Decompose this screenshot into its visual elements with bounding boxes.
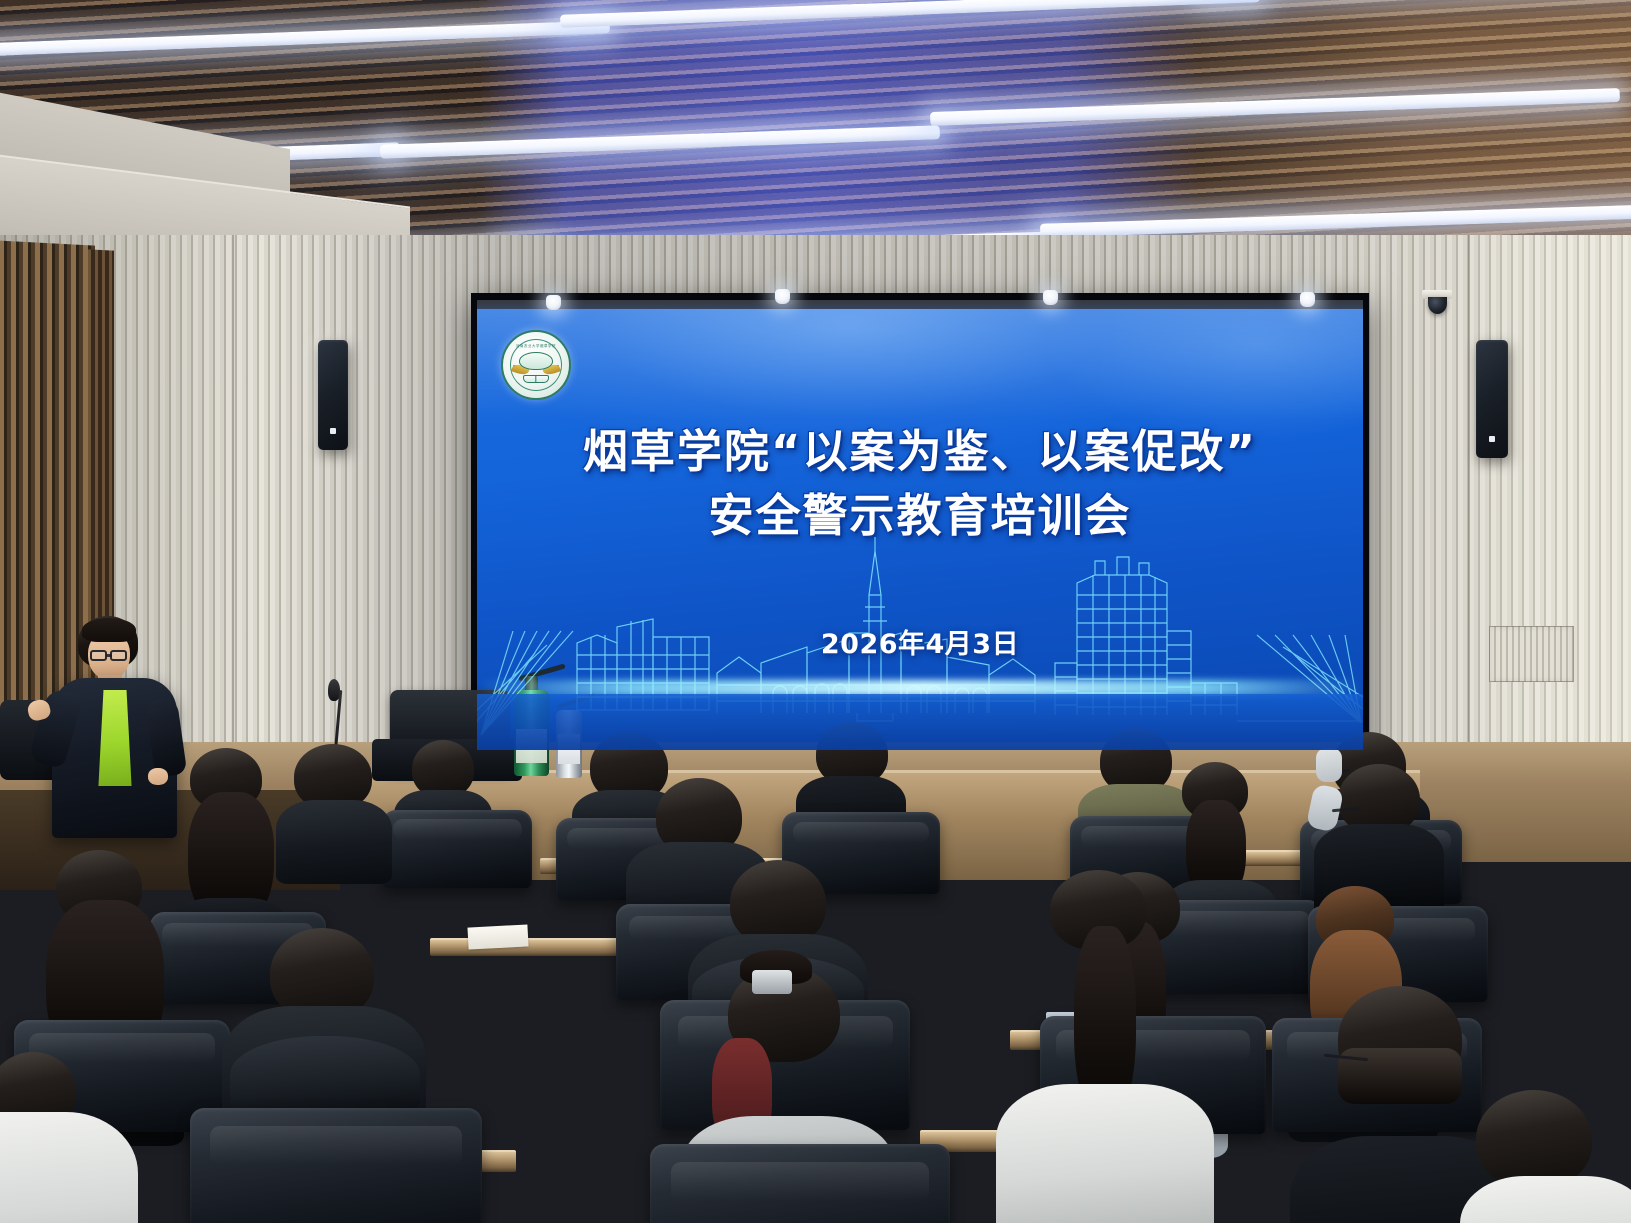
attendee-16-hair-clip (752, 970, 792, 994)
presentation-slide[interactable]: 河南农业大学烟草学院 烟草学院“以案为鉴、以案促改” 安全警示教育培训会 202… (477, 300, 1363, 750)
speaker-led-left (330, 428, 336, 434)
emblem-inner-ring: 河南农业大学烟草学院 (510, 339, 562, 391)
seat-r1-1 (382, 810, 532, 888)
speaker-led-right (1489, 436, 1495, 442)
screen-spotlight-1 (546, 295, 561, 310)
attendee-7-body (276, 800, 392, 884)
slide-date: 2026年4月3日 (477, 622, 1363, 661)
presenter-glasses-right-lens (110, 650, 127, 661)
slide-title-line-1: 烟草学院“以案为鉴、以案促改” (477, 420, 1363, 484)
led-display-frame: 河南农业大学烟草学院 烟草学院“以案为鉴、以案促改” 安全警示教育培训会 202… (471, 293, 1369, 756)
screen-spotlight-4 (1300, 292, 1315, 307)
auditorium-scene: 河南农业大学烟草学院 烟草学院“以案为鉴、以案促改” 安全警示教育培训会 202… (0, 0, 1631, 1223)
seat-r4-2 (650, 1144, 950, 1223)
presenter-fringe (82, 618, 136, 642)
attendee-17-body (996, 1084, 1214, 1223)
wall-access-panel (1489, 626, 1574, 682)
attendee-20-head (1476, 1090, 1592, 1188)
presenter-glasses-left-lens (90, 650, 107, 661)
screen-spotlight-3 (1043, 290, 1058, 305)
emblem-book-shape (523, 375, 549, 383)
emblem-leaf-shape (519, 352, 553, 370)
screen-spotlight-2 (775, 289, 790, 304)
screen-specular-sheen (477, 300, 1363, 420)
column-speaker-left (318, 340, 348, 450)
slide-water-reflection (477, 694, 1363, 750)
slide-title-block: 烟草学院“以案为鉴、以案促改” 安全警示教育培训会 (477, 420, 1363, 548)
university-emblem-icon: 河南农业大学烟草学院 (501, 330, 571, 400)
presenter-glasses-bridge (106, 654, 112, 657)
column-speaker-right (1476, 340, 1508, 458)
seat-r4-1 (190, 1108, 482, 1223)
handout-paper-1[interactable] (467, 924, 528, 949)
attendee-15-hood (230, 1036, 420, 1116)
attendee-5-raised-hand (1316, 748, 1342, 782)
audience-area (0, 700, 1631, 1223)
